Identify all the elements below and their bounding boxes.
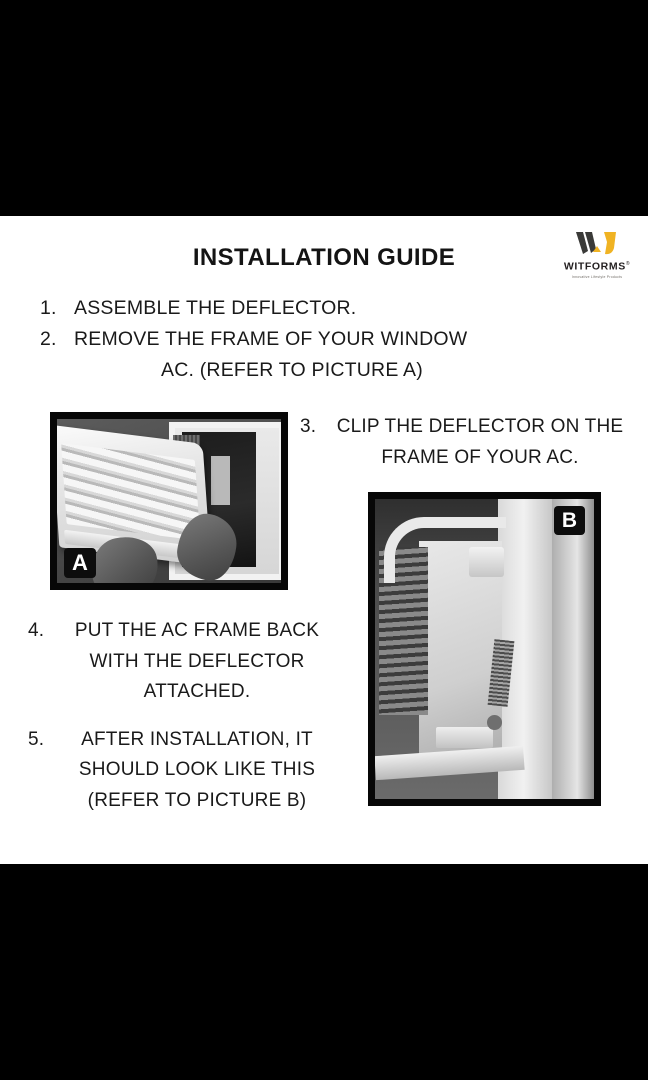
steps-list-bottom: 4. PUT THE AC FRAME BACK WITH THE DEFLEC… <box>28 616 338 816</box>
step-text-line: FRAME OF YOUR AC. <box>330 442 630 473</box>
step-number: 1. <box>40 293 74 324</box>
wall-panel-secondary <box>552 499 594 799</box>
step-text-line: ATTACHED. <box>56 677 338 708</box>
picture-a: A <box>50 412 288 590</box>
letterbox-top <box>0 0 648 216</box>
step-number: 2. <box>40 324 74 355</box>
page-title: INSTALLATION GUIDE <box>0 244 648 272</box>
deflector-foot-block <box>436 727 493 748</box>
step-text: REMOVE THE FRAME OF YOUR WINDOW AC. (REF… <box>74 324 510 386</box>
deflector-clip <box>469 547 504 577</box>
picture-b: B <box>368 492 601 806</box>
step-item-2: 2. REMOVE THE FRAME OF YOUR WINDOW AC. (… <box>40 324 510 386</box>
step-number: 4. <box>28 616 56 647</box>
step-text-line: AC. (REFER TO PICTURE A) <box>74 355 510 386</box>
picture-a-badge: A <box>64 548 96 578</box>
step-item-1: 1. ASSEMBLE THE DEFLECTOR. <box>40 293 510 324</box>
picture-b-badge: B <box>554 506 585 535</box>
picture-a-image: A <box>57 419 281 583</box>
step-item-4: 4. PUT THE AC FRAME BACK WITH THE DEFLEC… <box>28 616 338 708</box>
picture-b-image: B <box>375 499 594 799</box>
brand-tagline: Innovative Lifestyle Products <box>556 274 638 280</box>
mounting-screw <box>487 715 502 730</box>
screenshot-root: WITFORMS® Innovative Lifestyle Products … <box>0 0 648 1080</box>
letterbox-bottom <box>0 864 648 1080</box>
steps-list-top: 1. ASSEMBLE THE DEFLECTOR. 2. REMOVE THE… <box>40 293 510 386</box>
step-item-3: 3. CLIP THE DEFLECTOR ON THE FRAME OF YO… <box>300 411 630 473</box>
step-text-line: SHOULD LOOK LIKE THIS <box>56 755 338 786</box>
step-text-line: REMOVE THE FRAME OF YOUR WINDOW <box>74 328 467 350</box>
step-number: 5. <box>28 725 56 756</box>
step-text-line: PUT THE AC FRAME BACK <box>75 620 319 641</box>
step-number: 3. <box>300 411 330 442</box>
step-text: ASSEMBLE THE DEFLECTOR. <box>74 293 510 324</box>
step-text-line: CLIP THE DEFLECTOR ON THE <box>337 416 624 437</box>
step-text: AFTER INSTALLATION, IT SHOULD LOOK LIKE … <box>56 725 338 817</box>
step-item-5: 5. AFTER INSTALLATION, IT SHOULD LOOK LI… <box>28 725 338 817</box>
step-text-line: (REFER TO PICTURE B) <box>56 786 338 817</box>
step-text-line: WITH THE DEFLECTOR <box>56 647 338 678</box>
installation-guide-sheet: WITFORMS® Innovative Lifestyle Products … <box>0 216 648 864</box>
step-text: CLIP THE DEFLECTOR ON THE FRAME OF YOUR … <box>330 411 630 473</box>
ac-louvers <box>61 444 200 542</box>
steps-list-right: 3. CLIP THE DEFLECTOR ON THE FRAME OF YO… <box>300 411 630 473</box>
step-text: PUT THE AC FRAME BACK WITH THE DEFLECTOR… <box>56 616 338 708</box>
step-text-line: AFTER INSTALLATION, IT <box>81 729 313 750</box>
